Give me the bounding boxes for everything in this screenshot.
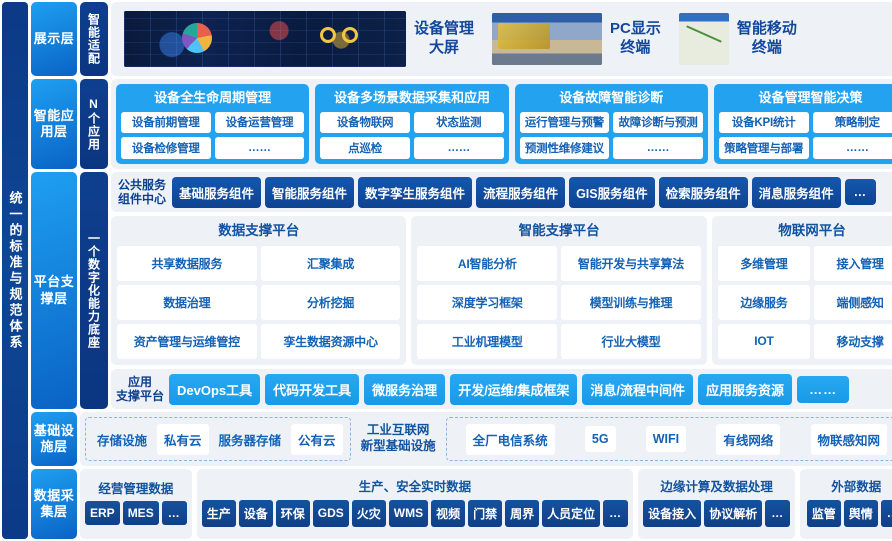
- platform-item[interactable]: 多维管理: [718, 246, 810, 281]
- data-group-title: 经营管理数据: [85, 481, 187, 499]
- platform-item[interactable]: 分析挖掘: [261, 285, 401, 320]
- presentation-layer-row: 展示层 智能适配 设备管理 大屏 PC显示: [31, 2, 892, 76]
- app-card-lifecycle[interactable]: 设备全生命周期管理 设备前期管理 设备运营管理 设备检修管理 ……: [116, 84, 309, 164]
- left-standards-bar: 统一的标准与规范体系: [2, 2, 28, 539]
- data-chip-more[interactable]: …: [765, 500, 790, 527]
- data-group-title: 生产、安全实时数据: [202, 479, 628, 497]
- component-chip[interactable]: GIS服务组件: [569, 177, 655, 208]
- app-support-chip[interactable]: 代码开发工具: [265, 374, 359, 405]
- app-item[interactable]: 运行管理与预警: [520, 112, 610, 134]
- terminal-pc[interactable]: PC显示 终端: [492, 13, 661, 65]
- platform-inner: 公共服务 组件中心 基础服务组件 智能服务组件 数字孪生服务组件 流程服务组件 …: [111, 172, 892, 409]
- data-group-external[interactable]: 外部数据 监管 舆情 …: [800, 469, 892, 539]
- label-line-2: 新型基础设施: [361, 439, 436, 455]
- infra-item-storage[interactable]: 存储设施: [93, 424, 151, 455]
- data-collection-layer-row: 数据采集层 经营管理数据 ERP MES … 生产、安全实时数据 生产 设备: [31, 469, 892, 539]
- app-item[interactable]: 预测性维修建议: [520, 137, 610, 159]
- platform-item-grid: AI智能分析 智能开发与共享算法 深度学习框架 模型训练与推理 工业机理模型 行…: [417, 246, 700, 359]
- app-card-fault-diagnosis[interactable]: 设备故障智能诊断 运行管理与预警 故障诊断与预测 预测性维修建议 ……: [515, 84, 708, 164]
- component-chip[interactable]: 消息服务组件: [752, 177, 841, 208]
- architecture-diagram: 统一的标准与规范体系 展示层 智能适配 设备管理 大屏: [0, 0, 892, 541]
- public-service-components-bar: 公共服务 组件中心 基础服务组件 智能服务组件 数字孪生服务组件 流程服务组件 …: [111, 172, 892, 212]
- app-item[interactable]: 设备前期管理: [121, 112, 211, 134]
- data-chip[interactable]: 协议解析: [704, 500, 762, 527]
- dashboard-screen-thumbnail: [124, 11, 406, 67]
- data-group-production-safety[interactable]: 生产、安全实时数据 生产 设备 环保 GDS 火灾 WMS 视频 门禁 周界 人…: [197, 469, 633, 539]
- layer-label-platform-text: 平台支撑层: [31, 274, 77, 307]
- app-item-more[interactable]: ……: [613, 137, 703, 159]
- data-chip-more[interactable]: …: [881, 500, 892, 527]
- layer-label-infrastructure-text: 基础设施层: [31, 423, 77, 456]
- platform-card-ai-support[interactable]: 智能支撑平台 AI智能分析 智能开发与共享算法 深度学习框架 模型训练与推理 工…: [411, 216, 706, 365]
- platform-item[interactable]: 模型训练与推理: [561, 285, 701, 320]
- data-chip[interactable]: 环保: [276, 500, 310, 527]
- data-group-business[interactable]: 经营管理数据 ERP MES …: [80, 469, 192, 539]
- app-support-chip-more[interactable]: ……: [797, 376, 849, 403]
- platform-card-title: 数据支撑平台: [117, 220, 400, 242]
- data-chip[interactable]: WMS: [389, 500, 428, 527]
- platform-item[interactable]: 孪生数据资源中心: [261, 324, 401, 359]
- platform-item[interactable]: AI智能分析: [417, 246, 557, 281]
- application-layer-row: 智能应用层 N个应用 设备全生命周期管理 设备前期管理 设备运营管理 设备检修管…: [31, 79, 892, 169]
- sublabel-smart-adaptation: 智能适配: [80, 2, 108, 76]
- label-line-1: PC显示: [610, 20, 661, 39]
- label-line-2: 大屏: [414, 39, 474, 58]
- component-chip[interactable]: 基础服务组件: [172, 177, 261, 208]
- terminal-mobile[interactable]: 智能移动 终端: [679, 13, 797, 65]
- layer-label-data-collection-text: 数据采集层: [31, 488, 77, 521]
- platform-item[interactable]: 深度学习框架: [417, 285, 557, 320]
- label-line-2: 终端: [737, 39, 797, 58]
- data-chip[interactable]: 周界: [505, 500, 539, 527]
- infra-item-telecom[interactable]: 全厂电信系统: [466, 424, 555, 455]
- component-chip[interactable]: 流程服务组件: [476, 177, 565, 208]
- data-chip-more[interactable]: …: [603, 500, 628, 527]
- presentation-panel: 设备管理 大屏 PC显示 终端 智能移动 终端: [111, 2, 892, 76]
- application-panel: 设备全生命周期管理 设备前期管理 设备运营管理 设备检修管理 …… 设备多场景数…: [111, 79, 892, 169]
- infrastructure-panel: 存储设施 私有云 服务器存储 公有云 工业互联网 新型基础设施 全厂电信系统 5…: [80, 412, 892, 466]
- pc-monitor-thumbnail: [492, 13, 602, 65]
- app-item[interactable]: 状态监测: [414, 112, 504, 134]
- app-card-title: 设备管理智能决策: [719, 88, 892, 108]
- label-line-2: 支撑平台: [116, 389, 164, 403]
- platform-item[interactable]: 智能开发与共享算法: [561, 246, 701, 281]
- app-item[interactable]: 设备物联网: [320, 112, 410, 134]
- app-card-title: 设备全生命周期管理: [121, 88, 304, 108]
- label-line-2: 组件中心: [118, 192, 166, 206]
- data-chip-more[interactable]: …: [162, 501, 187, 525]
- application-support-label: 应用 支撑平台: [116, 375, 164, 404]
- infra-item-private-cloud[interactable]: 私有云: [157, 424, 209, 455]
- platform-item[interactable]: 汇聚集成: [261, 246, 401, 281]
- data-chip[interactable]: 生产: [202, 500, 236, 527]
- platform-item[interactable]: 边缘服务: [718, 285, 810, 320]
- platform-layer-row: 平台支撑层 一个数字化能力底座 公共服务 组件中心 基础服务组件 智能服务组件 …: [31, 172, 892, 409]
- label-line-2: 终端: [610, 39, 661, 58]
- terminal-pc-label: PC显示 终端: [610, 20, 661, 58]
- layer-label-presentation: 展示层: [31, 2, 77, 76]
- platform-item-grid: 多维管理 接入管理 边缘服务 端侧感知 IOT 移动支撑: [718, 246, 892, 359]
- platform-card-title: 物联网平台: [718, 220, 892, 242]
- platform-cards-row: 数据支撑平台 共享数据服务 汇聚集成 数据治理 分析挖掘 资产管理与运维管控 孪…: [111, 216, 892, 365]
- platform-card-data-support[interactable]: 数据支撑平台 共享数据服务 汇聚集成 数据治理 分析挖掘 资产管理与运维管控 孪…: [111, 216, 406, 365]
- sublabel-digital-base: 一个数字化能力底座: [80, 172, 108, 409]
- data-group-edge-computing[interactable]: 边缘计算及数据处理 设备接入 协议解析 …: [638, 469, 795, 539]
- terminal-big-screen[interactable]: 设备管理 大屏: [124, 11, 474, 67]
- component-chip-more[interactable]: …: [845, 179, 877, 205]
- main-column: 展示层 智能适配 设备管理 大屏 PC显示: [31, 2, 892, 539]
- platform-item[interactable]: 端侧感知: [814, 285, 892, 320]
- data-group-title: 边缘计算及数据处理: [643, 479, 790, 497]
- mobile-map-thumbnail: [679, 13, 729, 65]
- label-line-1: 工业互联网: [361, 423, 436, 439]
- platform-item[interactable]: 共享数据服务: [117, 246, 257, 281]
- app-card-title: 设备故障智能诊断: [520, 88, 703, 108]
- layer-label-platform: 平台支撑层: [31, 172, 77, 409]
- data-chip-list: 设备接入 协议解析 …: [643, 500, 790, 527]
- platform-item[interactable]: 数据治理: [117, 285, 257, 320]
- app-support-chip[interactable]: 应用服务资源: [698, 374, 792, 405]
- app-support-chip[interactable]: DevOps工具: [169, 374, 260, 405]
- infra-item-5g[interactable]: 5G: [585, 426, 616, 452]
- platform-card-iot[interactable]: 物联网平台 多维管理 接入管理 边缘服务 端侧感知 IOT 移动支撑: [712, 216, 892, 365]
- app-support-chip[interactable]: 开发/运维/集成框架: [450, 374, 577, 405]
- platform-item[interactable]: 行业大模型: [561, 324, 701, 359]
- component-chip[interactable]: 检索服务组件: [659, 177, 748, 208]
- app-item-grid: 设备KPI统计 策略制定 策略管理与部署 ……: [719, 112, 892, 160]
- app-card-smart-decision[interactable]: 设备管理智能决策 设备KPI统计 策略制定 策略管理与部署 ……: [714, 84, 892, 164]
- app-item-more[interactable]: ……: [813, 137, 892, 159]
- data-chip[interactable]: 视频: [431, 500, 465, 527]
- app-item[interactable]: 设备检修管理: [121, 137, 211, 159]
- platform-item[interactable]: 资产管理与运维管控: [117, 324, 257, 359]
- industrial-internet-heading: 工业互联网 新型基础设施: [357, 423, 440, 454]
- app-item[interactable]: 策略制定: [813, 112, 892, 134]
- data-group-title: 外部数据: [805, 479, 892, 497]
- platform-item-grid: 共享数据服务 汇聚集成 数据治理 分析挖掘 资产管理与运维管控 孪生数据资源中心: [117, 246, 400, 359]
- platform-card-title: 智能支撑平台: [417, 220, 700, 242]
- data-chip[interactable]: 火灾: [352, 500, 386, 527]
- infra-item-iot-sensing[interactable]: 物联感知网: [811, 424, 888, 455]
- infra-item-public-cloud[interactable]: 公有云: [291, 424, 343, 455]
- app-item-grid: 设备前期管理 设备运营管理 设备检修管理 ……: [121, 112, 304, 160]
- app-item[interactable]: 设备KPI统计: [719, 112, 809, 134]
- data-chip[interactable]: ERP: [85, 501, 120, 525]
- app-item-more[interactable]: ……: [215, 137, 305, 159]
- app-support-chip[interactable]: 消息/流程中间件: [582, 374, 693, 405]
- sublabel-n-applications: N个应用: [80, 79, 108, 169]
- data-chip[interactable]: 监管: [807, 500, 841, 527]
- data-chip[interactable]: GDS: [313, 500, 349, 527]
- app-item[interactable]: 策略管理与部署: [719, 137, 809, 159]
- layer-label-application-text: 智能应用层: [31, 108, 77, 141]
- platform-item[interactable]: 移动支撑: [814, 324, 892, 359]
- app-support-chip[interactable]: 微服务治理: [364, 374, 445, 405]
- data-chip[interactable]: 门禁: [468, 500, 502, 527]
- layer-label-infrastructure: 基础设施层: [31, 412, 77, 466]
- infrastructure-network-group: 全厂电信系统 5G WIFI 有线网络 物联感知网: [446, 417, 892, 461]
- label-line-1: 公共服务: [118, 178, 166, 192]
- app-item-grid: 设备物联网 状态监测 点巡检 ……: [320, 112, 503, 160]
- public-service-components-label: 公共服务 组件中心: [116, 178, 168, 207]
- infrastructure-layer-row: 基础设施层 存储设施 私有云 服务器存储 公有云 工业互联网 新型基础设施 全厂…: [31, 412, 892, 466]
- data-chip-list: 监管 舆情 …: [805, 500, 892, 527]
- infra-item-wired-network[interactable]: 有线网络: [716, 424, 780, 455]
- application-support-bar: 应用 支撑平台 DevOps工具 代码开发工具 微服务治理 开发/运维/集成框架…: [111, 369, 892, 409]
- label-line-1: 设备管理: [414, 20, 474, 39]
- data-chip[interactable]: 人员定位: [542, 500, 600, 527]
- app-item-grid: 运行管理与预警 故障诊断与预测 预测性维修建议 ……: [520, 112, 703, 160]
- data-chip[interactable]: 设备: [239, 500, 273, 527]
- platform-item[interactable]: 接入管理: [814, 246, 892, 281]
- terminal-mobile-label: 智能移动 终端: [737, 20, 797, 58]
- app-card-title: 设备多场景数据采集和应用: [320, 88, 503, 108]
- layer-label-application: 智能应用层: [31, 79, 77, 169]
- app-item[interactable]: 故障诊断与预测: [613, 112, 703, 134]
- app-card-multiscene-data[interactable]: 设备多场景数据采集和应用 设备物联网 状态监测 点巡检 ……: [315, 84, 508, 164]
- label-line-1: 智能移动: [737, 20, 797, 39]
- data-chip-list: ERP MES …: [85, 501, 187, 525]
- platform-item[interactable]: 工业机理模型: [417, 324, 557, 359]
- infrastructure-storage-group: 存储设施 私有云 服务器存储 公有云: [85, 417, 351, 461]
- infra-item-wifi[interactable]: WIFI: [646, 426, 686, 452]
- data-chip[interactable]: MES: [123, 501, 159, 525]
- app-item[interactable]: 设备运营管理: [215, 112, 305, 134]
- terminal-big-screen-label: 设备管理 大屏: [414, 20, 474, 58]
- layer-label-data-collection: 数据采集层: [31, 469, 77, 539]
- platform-item[interactable]: IOT: [718, 324, 810, 359]
- data-chip-list: 生产 设备 环保 GDS 火灾 WMS 视频 门禁 周界 人员定位 …: [202, 500, 628, 527]
- component-chip[interactable]: 数字孪生服务组件: [358, 177, 472, 208]
- label-line-1: 应用: [116, 375, 164, 389]
- component-chip[interactable]: 智能服务组件: [265, 177, 354, 208]
- infra-item-server-storage[interactable]: 服务器存储: [215, 424, 286, 455]
- app-item-more[interactable]: ……: [414, 137, 504, 159]
- data-collection-panel: 经营管理数据 ERP MES … 生产、安全实时数据 生产 设备 环保 GDS …: [80, 469, 892, 539]
- data-chip[interactable]: 舆情: [844, 500, 878, 527]
- app-item[interactable]: 点巡检: [320, 137, 410, 159]
- data-chip[interactable]: 设备接入: [643, 500, 701, 527]
